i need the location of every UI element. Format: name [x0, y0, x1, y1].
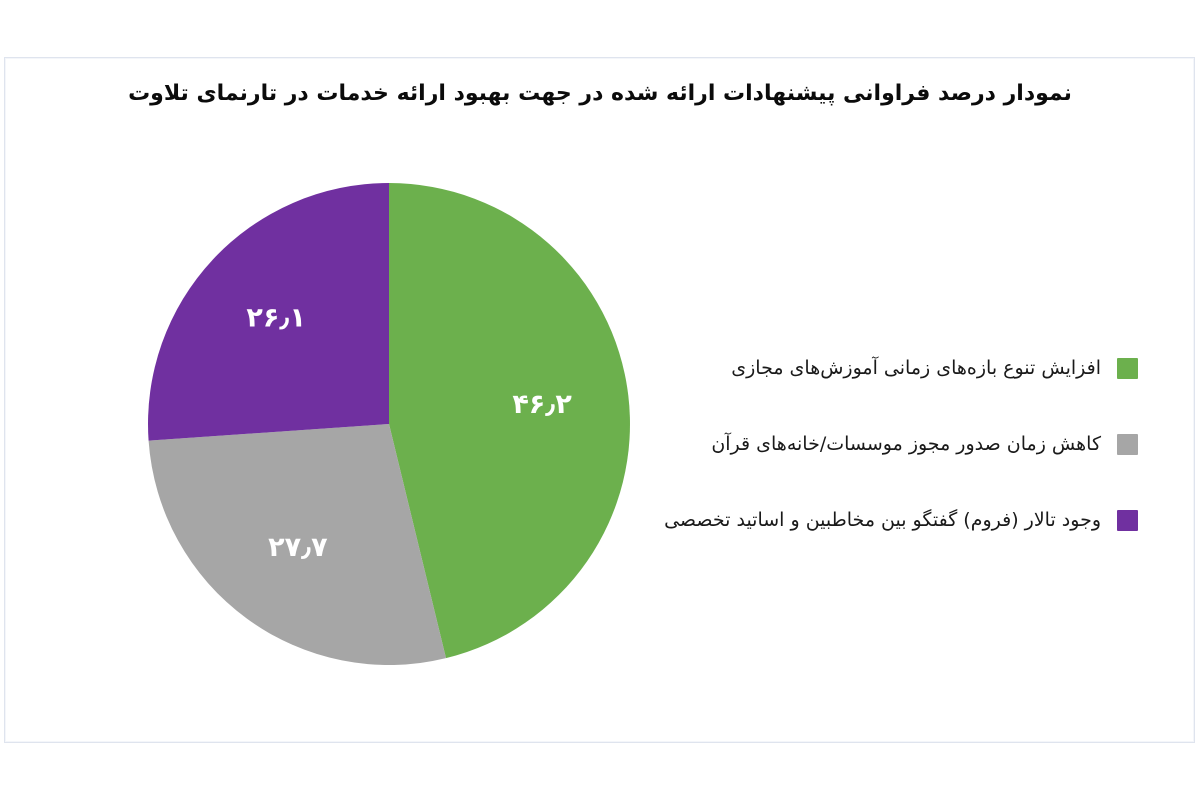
- pie-chart: ۴۶٫۲۲۷٫۷۲۶٫۱: [148, 183, 630, 665]
- legend-swatch-purple: [1117, 510, 1138, 531]
- pie-svg: ۴۶٫۲۲۷٫۷۲۶٫۱: [148, 183, 630, 665]
- pie-slice-group: [148, 183, 630, 665]
- pie-slice-label: ۲۷٫۷: [268, 532, 328, 563]
- legend-item-2[interactable]: وجود تالار (فروم) گفتگو بین مخاطبین و اس…: [678, 482, 1138, 558]
- page-title: نمودار درصد فراوانی پیشنهادات ارائه شده …: [60, 78, 1140, 110]
- chart-page: نمودار درصد فراوانی پیشنهادات ارائه شده …: [0, 0, 1200, 800]
- legend-item-1[interactable]: کاهش زمان صدور مجوز موسسات/خانه‌های قرآن: [678, 406, 1138, 482]
- pie-slice-label: ۲۶٫۱: [246, 302, 306, 333]
- legend-item-0[interactable]: افزایش تنوع بازه‌های زمانی آموزش‌های مجا…: [678, 330, 1138, 406]
- legend-label-0: افزایش تنوع بازه‌های زمانی آموزش‌های مجا…: [678, 355, 1101, 382]
- legend-label-1: کاهش زمان صدور مجوز موسسات/خانه‌های قرآن: [678, 431, 1101, 458]
- legend-swatch-green: [1117, 358, 1138, 379]
- legend: افزایش تنوع بازه‌های زمانی آموزش‌های مجا…: [678, 330, 1138, 558]
- legend-swatch-gray: [1117, 434, 1138, 455]
- legend-label-2: وجود تالار (فروم) گفتگو بین مخاطبین و اس…: [664, 507, 1101, 534]
- pie-slice-label: ۴۶٫۲: [512, 389, 572, 420]
